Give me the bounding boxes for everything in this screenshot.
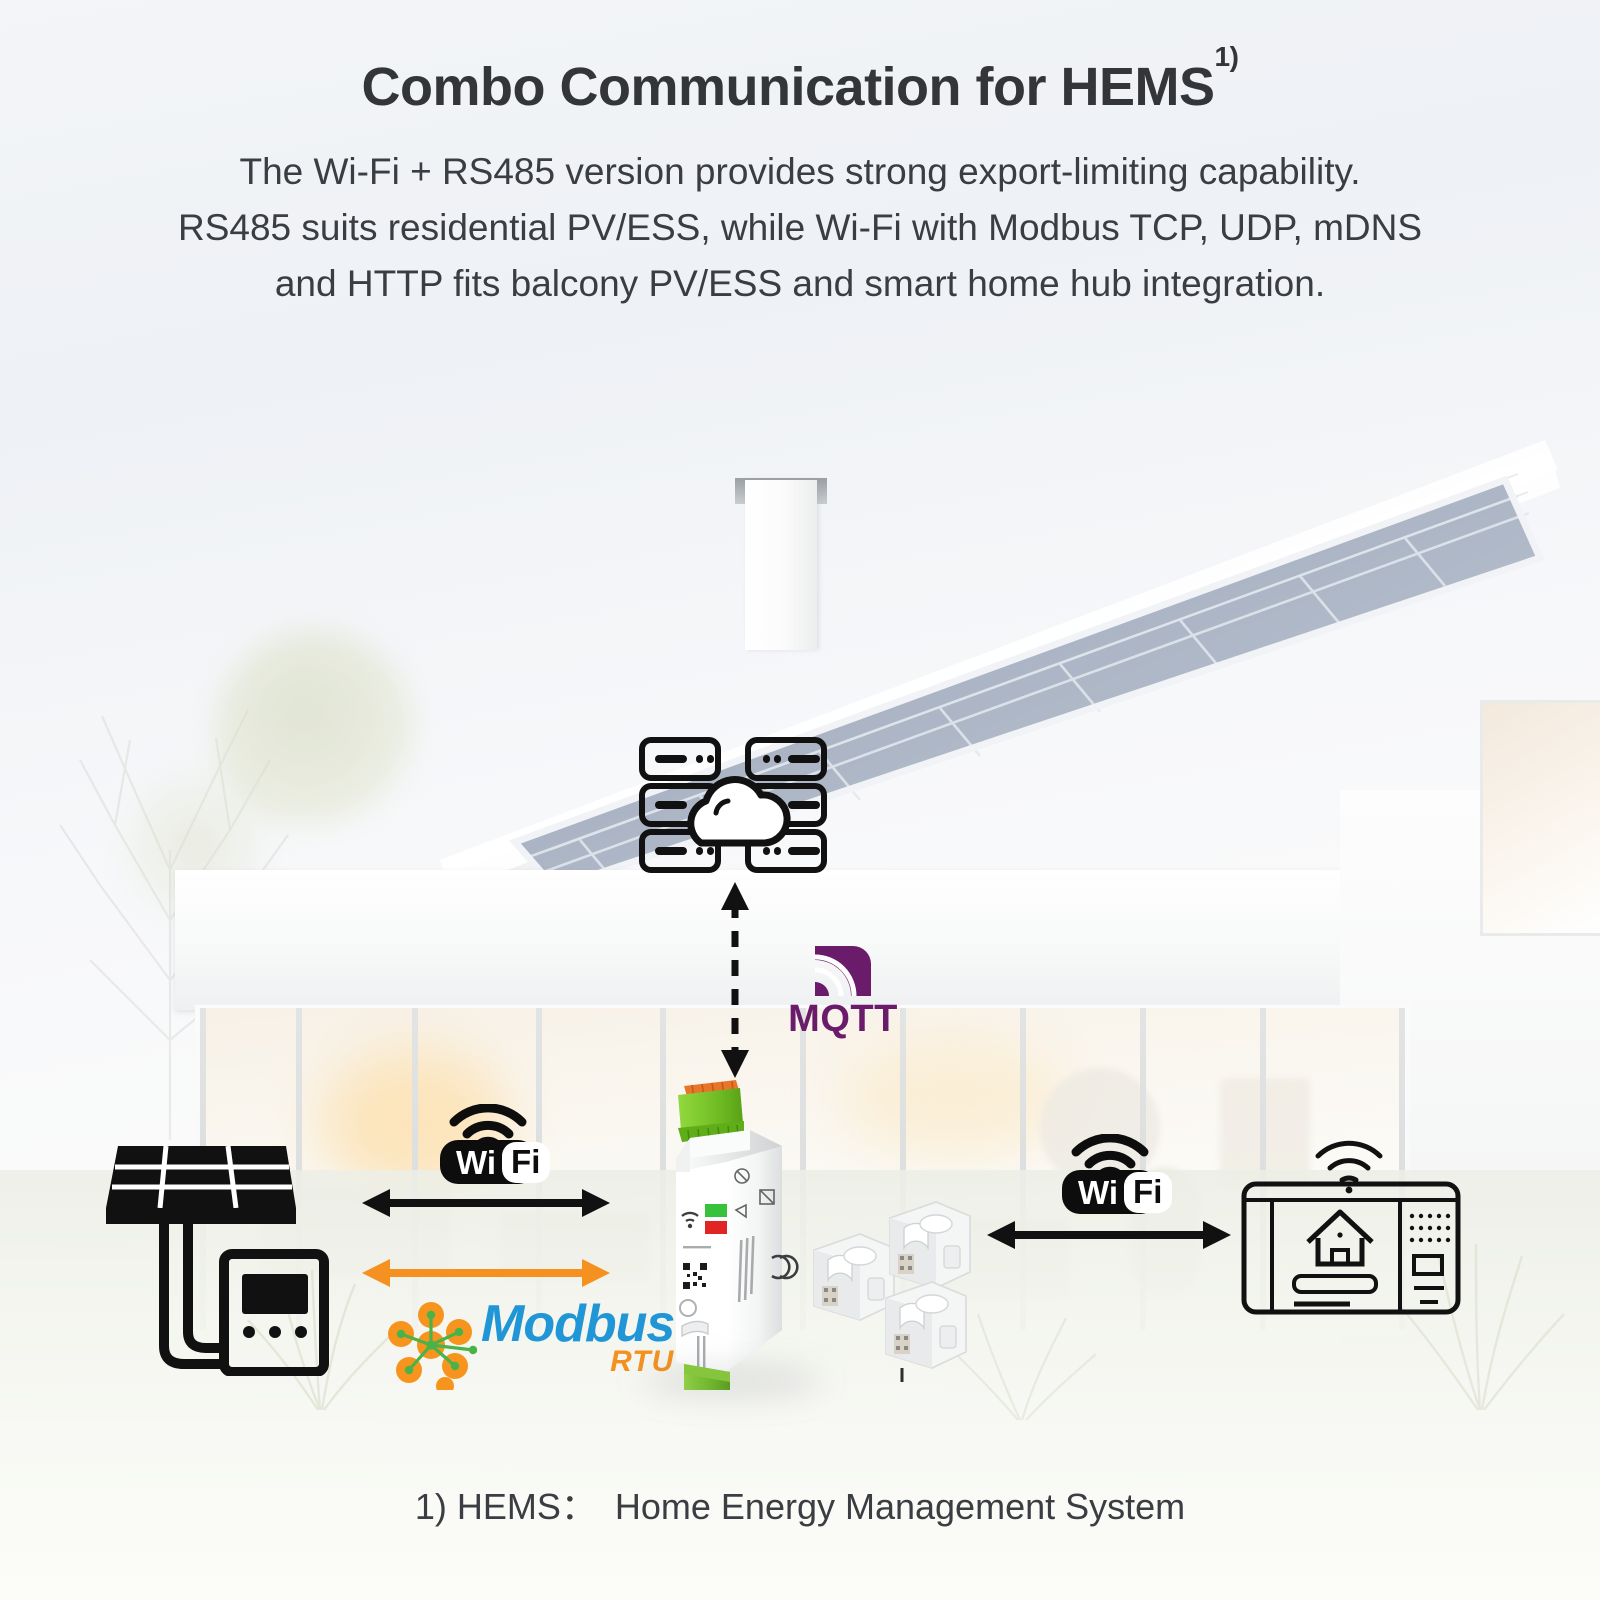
subtitle-line-2: RS485 suits residential PV/ESS, while Wi… — [80, 200, 1520, 256]
din-rail-energy-meter — [632, 1080, 832, 1390]
header-block: Combo Communication for HEMS1) The Wi-Fi… — [0, 0, 1600, 313]
wifi-fi-text: Fi — [1124, 1172, 1172, 1213]
interior-light — [840, 1038, 1070, 1158]
wifi-wi-text: Wi — [448, 1146, 502, 1179]
solar-panel-inverter-icon — [96, 1136, 336, 1376]
subtitle-line-1: The Wi-Fi + RS485 version provides stron… — [80, 144, 1520, 200]
upper-window — [1480, 700, 1600, 936]
modbus-node-graph-icon — [385, 1300, 477, 1390]
arrow-cloud-to-meter — [705, 880, 765, 1080]
wifi-signal-icon — [449, 1104, 527, 1144]
arrow-pv-modbus — [360, 1248, 612, 1298]
page-title-text: Combo Communication for HEMS — [362, 57, 1215, 117]
subtitle-line-3: and HTTP fits balcony PV/ESS and smart h… — [80, 256, 1520, 312]
mqtt-label: MQTT — [778, 998, 908, 1041]
wifi-badge-right: Wi Fi — [1062, 1134, 1158, 1214]
energy-meter-body — [632, 1080, 832, 1390]
modbus-rtu-logo: Modbus RTU — [385, 1300, 674, 1390]
arrow-hems-wifi — [985, 1210, 1233, 1260]
wifi-badge-left: Wi Fi — [440, 1104, 536, 1184]
footnote: 1) HEMS： Home Energy Management System — [0, 1478, 1600, 1530]
cloud-server-icon — [638, 735, 828, 875]
wifi-wi-text: Wi — [1070, 1176, 1124, 1209]
wifi-fi-text: Fi — [502, 1142, 550, 1183]
mqtt-signal-icon — [811, 938, 875, 1000]
wifi-wordmark: Wi Fi — [1062, 1170, 1158, 1214]
footnote-text: 1) HEMS： Home Energy Management System — [415, 1486, 1185, 1527]
infographic-canvas: Combo Communication for HEMS1) The Wi-Fi… — [0, 0, 1600, 1600]
current-transformer-clamp — [880, 1268, 972, 1384]
page-subtitle: The Wi-Fi + RS485 version provides stron… — [80, 144, 1520, 313]
arrow-pv-wifi — [360, 1178, 612, 1228]
chimney — [745, 480, 817, 650]
hems-controller-icon — [1238, 1118, 1464, 1318]
mqtt-logo: MQTT — [778, 938, 908, 1041]
device-shadow — [642, 1368, 822, 1394]
page-title: Combo Communication for HEMS1) — [0, 0, 1600, 118]
page-title-superscript: 1) — [1215, 41, 1239, 72]
wifi-signal-icon — [1071, 1134, 1149, 1174]
